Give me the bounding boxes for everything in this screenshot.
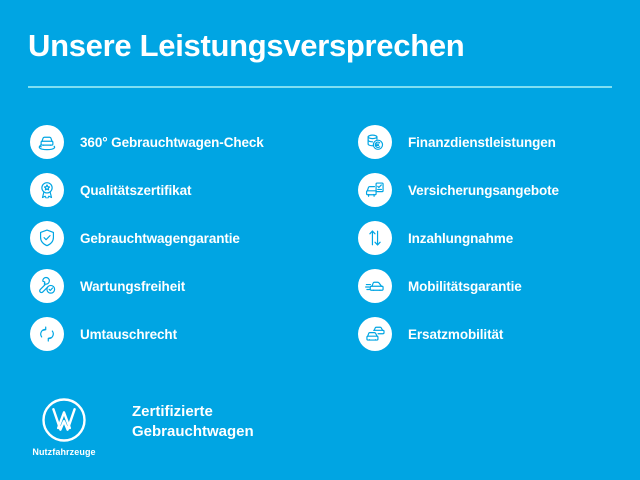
promise-item: Versicherungsangebote [358,166,640,214]
coins-euro-icon [358,125,392,159]
promise-label: Qualitätszertifikat [80,183,191,198]
header-divider [28,86,612,88]
promise-item: Inzahlungnahme [358,214,640,262]
promise-label: 360° Gebrauchtwagen-Check [80,135,264,150]
footer: Nutzfahrzeuge Zertifizierte Gebrauchtwag… [30,396,254,457]
promise-label: Umtauschrecht [80,327,177,342]
car-motion-icon [358,269,392,303]
award-rosette-icon [30,173,64,207]
promise-item: Ersatzmobilität [358,310,640,358]
promises-column-right: Finanzdienstleistungen Versicheru [320,118,640,358]
promise-item: Gebrauchtwagengarantie [30,214,320,262]
promise-label: Wartungsfreiheit [80,279,185,294]
two-cars-icon [358,317,392,351]
shield-check-icon [30,221,64,255]
promise-label: Gebrauchtwagengarantie [80,231,240,246]
footer-claim-line2: Gebrauchtwagen [132,422,254,442]
promise-label: Finanzdienstleistungen [408,135,556,150]
promises-grid: 360° Gebrauchtwagen-Check Qualitätszerti… [0,118,640,358]
promotion-slide: Unsere Leistungsversprechen 360° Gebrauc… [0,0,640,480]
footer-claim: Zertifizierte Gebrauchtwagen [132,402,254,442]
vw-logo-icon [40,396,88,444]
promises-column-left: 360° Gebrauchtwagen-Check Qualitätszerti… [0,118,320,358]
arrows-up-down-icon [358,221,392,255]
exchange-arrows-icon [30,317,64,351]
promise-item: Finanzdienstleistungen [358,118,640,166]
promise-item: Qualitätszertifikat [30,166,320,214]
wrench-check-icon [30,269,64,303]
vw-logo-subtitle: Nutzfahrzeuge [32,447,95,457]
footer-claim-line1: Zertifizierte [132,402,254,422]
car-checklist-icon [358,173,392,207]
promise-label: Inzahlungnahme [408,231,513,246]
promise-label: Versicherungsangebote [408,183,559,198]
page-title: Unsere Leistungsversprechen [28,28,464,64]
promise-item: 360° Gebrauchtwagen-Check [30,118,320,166]
promise-item: Umtauschrecht [30,310,320,358]
promise-label: Ersatzmobilität [408,327,503,342]
promise-item: Mobilitätsgarantie [358,262,640,310]
car-360-check-icon [30,125,64,159]
vw-brand-block: Nutzfahrzeuge [30,396,98,457]
promise-label: Mobilitätsgarantie [408,279,522,294]
promise-item: Wartungsfreiheit [30,262,320,310]
